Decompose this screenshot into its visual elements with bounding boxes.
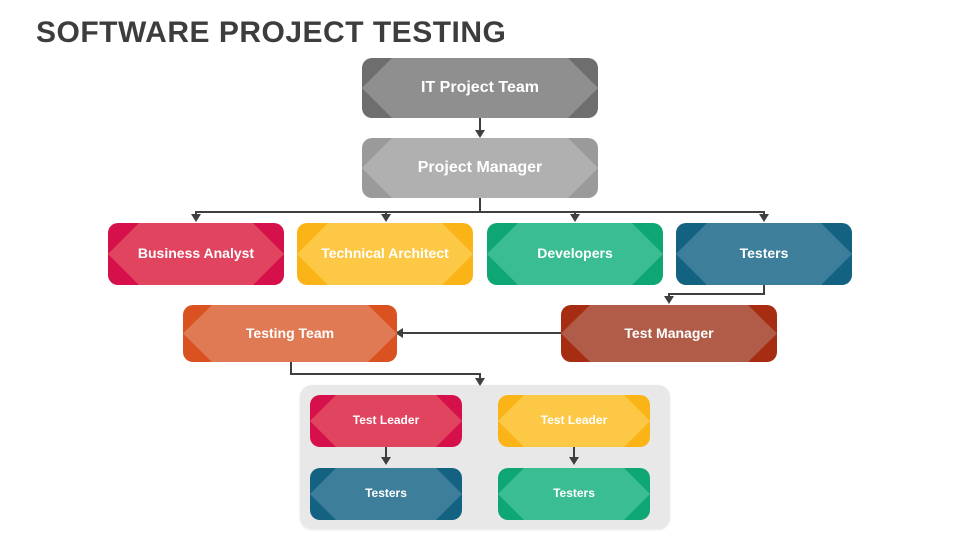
node-project-manager[interactable]: Project Manager: [362, 138, 598, 198]
node-developers[interactable]: Developers: [487, 223, 663, 285]
node-label: Developers: [531, 246, 618, 261]
diagram-canvas: SOFTWARE PROJECT TESTING IT Project Team…: [0, 0, 960, 540]
node-label: Test Leader: [347, 414, 425, 427]
node-label: IT Project Team: [415, 79, 545, 97]
node-label: Test Manager: [618, 326, 719, 341]
arrowhead-testers-to-test-manager: [664, 296, 674, 304]
arrowhead-pm-to-testers: [759, 214, 769, 222]
node-testers-left[interactable]: Testers: [310, 468, 462, 520]
arrowhead-pm-to-developers: [570, 214, 580, 222]
arrowhead-testing-team-to-group: [475, 378, 485, 386]
arrowhead-it-team-to-pm: [475, 130, 485, 138]
connector-testing-team-to-group: [290, 373, 481, 375]
node-label: Test Leader: [535, 414, 613, 427]
connector-testers-to-test-manager: [668, 293, 765, 295]
node-label: Testers: [359, 487, 413, 500]
node-test-leader-left[interactable]: Test Leader: [310, 395, 462, 447]
arrowhead-test-leader-right-to-testers-right: [569, 457, 579, 465]
node-business-analyst[interactable]: Business Analyst: [108, 223, 284, 285]
arrowhead-pm-to-business-analyst: [191, 214, 201, 222]
connector-test-manager-to-testing-team: [403, 332, 561, 334]
node-label: Testers: [734, 246, 795, 261]
node-testing-team[interactable]: Testing Team: [183, 305, 397, 362]
node-testers-right[interactable]: Testers: [498, 468, 650, 520]
arrowhead-pm-to-technical-architect: [381, 214, 391, 222]
node-label: Testing Team: [240, 326, 340, 341]
page-title: SOFTWARE PROJECT TESTING: [36, 16, 506, 50]
node-test-manager[interactable]: Test Manager: [561, 305, 777, 362]
arrowhead-test-leader-left-to-testers-left: [381, 457, 391, 465]
node-technical-architect[interactable]: Technical Architect: [297, 223, 473, 285]
node-label: Project Manager: [412, 159, 548, 177]
connector-distribution-bus: [195, 211, 765, 213]
node-test-leader-right[interactable]: Test Leader: [498, 395, 650, 447]
node-label: Testers: [547, 487, 601, 500]
node-label: Business Analyst: [132, 246, 260, 261]
node-it-project-team[interactable]: IT Project Team: [362, 58, 598, 118]
node-testers-top[interactable]: Testers: [676, 223, 852, 285]
connector-pm-stem: [479, 198, 481, 212]
node-label: Technical Architect: [315, 246, 455, 261]
